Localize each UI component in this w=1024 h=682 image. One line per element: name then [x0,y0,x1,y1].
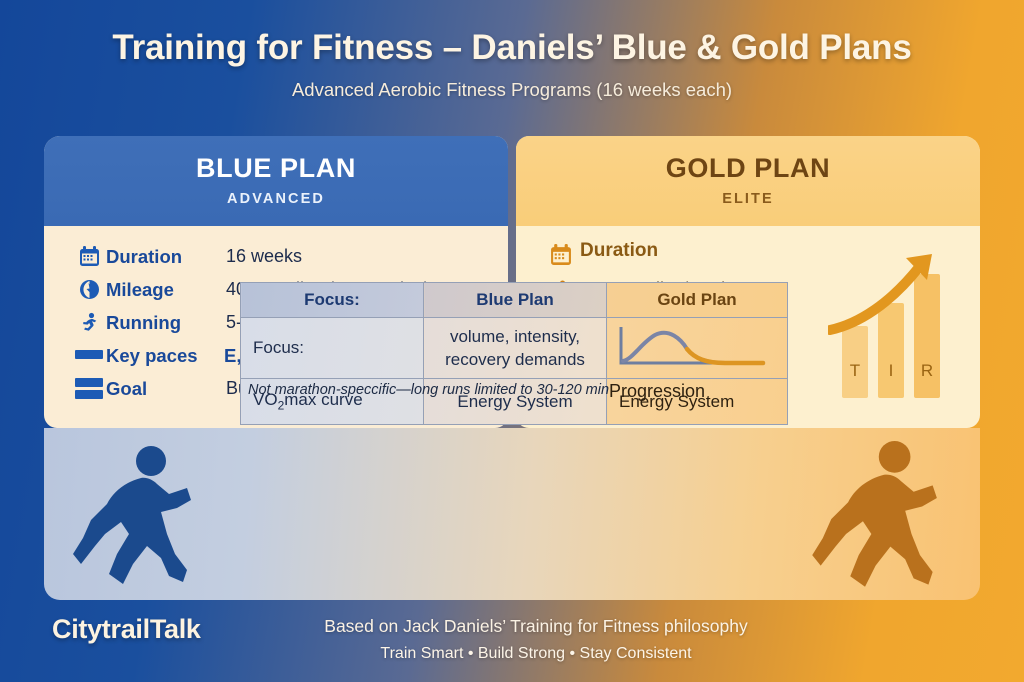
bar-label-t: T [850,361,860,380]
table-cell-focus-gold [607,318,788,379]
blue-row-label: Goal [106,378,226,400]
comparison-table: Focus: Blue Plan Gold Plan Focus: volume… [240,282,788,425]
blue-plan-tier: ADVANCED [44,191,508,207]
gold-progression-chart: T I R [828,248,958,403]
page-subtitle: Advanced Aerobic Fitness Programs (16 we… [0,79,1024,101]
calendar-icon [542,240,580,266]
table-cell-focus-label: Focus: [241,318,424,379]
brand-logo: CitytrailTalk [52,614,201,645]
bar-label-i: I [889,361,894,380]
gold-plan-tier: ELITE [516,191,980,207]
content-card: BLUE PLAN ADVANCED Duration 16 weeks Mil… [44,136,980,600]
header: Training for Fitness – Daniels’ Blue & G… [0,28,1024,101]
blue-row-value: 16 weeks [226,246,302,267]
blue-row-label: Running [106,312,226,334]
table-header-gold: Gold Plan [607,283,788,318]
bars-icon [72,350,106,361]
gold-plan-header: GOLD PLAN ELITE [516,136,980,226]
blue-plan-header: BLUE PLAN ADVANCED [44,136,508,226]
gold-runner-silhouette [808,436,958,600]
gold-plan-name: GOLD PLAN [516,153,980,184]
blue-row-label: Key paces [106,345,224,367]
vo2max-curve-icon [615,323,773,369]
footer: Based on Jack Daniels’ Training for Fitn… [256,616,816,663]
blue-runner-silhouette [69,442,211,597]
bars-icon [72,378,106,400]
table-row: Focus: volume, intensity, recovery deman… [241,318,788,379]
blue-row-duration: Duration 16 weeks [72,240,508,273]
table-header-focus: Focus: [241,283,424,318]
blue-row-label: Duration [106,246,226,268]
gauge-icon [72,279,106,300]
footer-line-1: Based on Jack Daniels’ Training for Fitn… [256,616,816,637]
runner-icon [72,312,106,334]
bar-label-r: R [921,361,933,380]
table-cell-focus-blue: volume, intensity, recovery demands [424,318,607,379]
gold-duration-label: Duration [580,240,658,262]
blue-row-label: Mileage [106,279,226,301]
comparison-band [44,428,980,600]
footer-line-2: Train Smart • Build Strong • Stay Consis… [256,645,816,663]
table-header-row: Focus: Blue Plan Gold Plan [241,283,788,318]
page-title: Training for Fitness – Daniels’ Blue & G… [0,28,1024,68]
table-header-blue: Blue Plan [424,283,607,318]
calendar-icon [72,246,106,267]
table-footnote: Not marathon-speccific—long runs limited… [248,382,718,398]
blue-plan-name: BLUE PLAN [44,153,508,184]
